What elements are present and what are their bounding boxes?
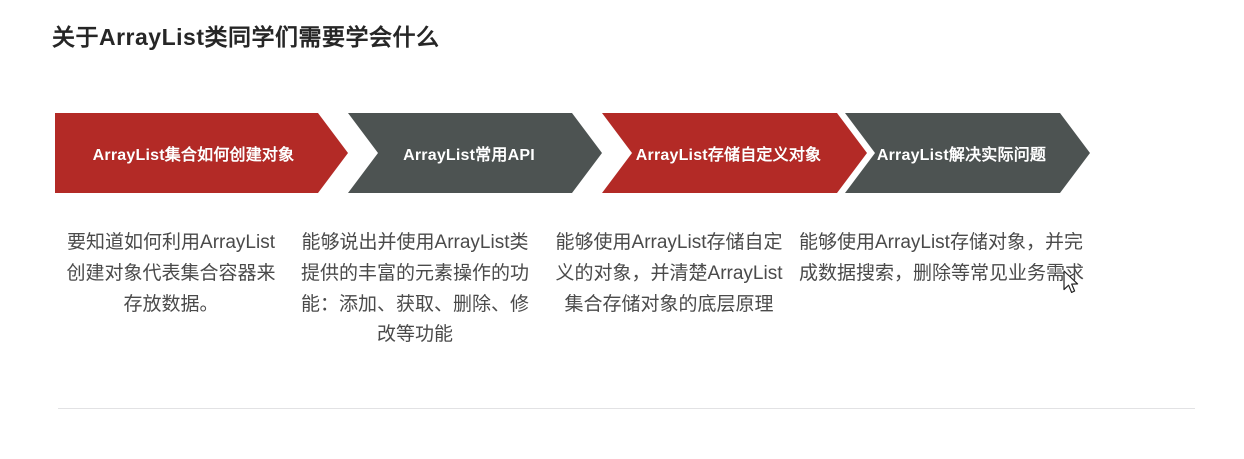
section-divider bbox=[58, 408, 1195, 409]
process-step-4[interactable]: ArrayList解决实际问题 bbox=[845, 113, 1090, 193]
process-step-2-label: ArrayList常用API bbox=[348, 141, 602, 165]
process-step-4-label: ArrayList解决实际问题 bbox=[845, 141, 1090, 165]
page-title: 关于ArrayList类同学们需要学会什么 bbox=[52, 18, 439, 52]
description-column-4: 能够使用ArrayList存储对象，并完成数据搜索，删除等常见业务需求 bbox=[795, 228, 1095, 290]
process-step-1-label: ArrayList集合如何创建对象 bbox=[55, 141, 348, 165]
description-row: 要知道如何利用ArrayList创建对象代表集合容器来存放数据。 能够说出并使用… bbox=[55, 228, 1115, 351]
process-chevron-band: ArrayList集合如何创建对象 ArrayList常用API ArrayLi… bbox=[55, 113, 1090, 193]
process-step-3[interactable]: ArrayList存储自定义对象 bbox=[602, 113, 867, 193]
description-column-2: 能够说出并使用ArrayList类提供的丰富的元素操作的功能：添加、获取、删除、… bbox=[287, 228, 543, 351]
process-step-3-label: ArrayList存储自定义对象 bbox=[602, 141, 867, 165]
process-step-2[interactable]: ArrayList常用API bbox=[348, 113, 602, 193]
description-column-3: 能够使用ArrayList存储自定义的对象，并清楚ArrayList集合存储对象… bbox=[543, 228, 795, 320]
process-step-1[interactable]: ArrayList集合如何创建对象 bbox=[55, 113, 348, 193]
description-column-1: 要知道如何利用ArrayList创建对象代表集合容器来存放数据。 bbox=[55, 228, 287, 320]
